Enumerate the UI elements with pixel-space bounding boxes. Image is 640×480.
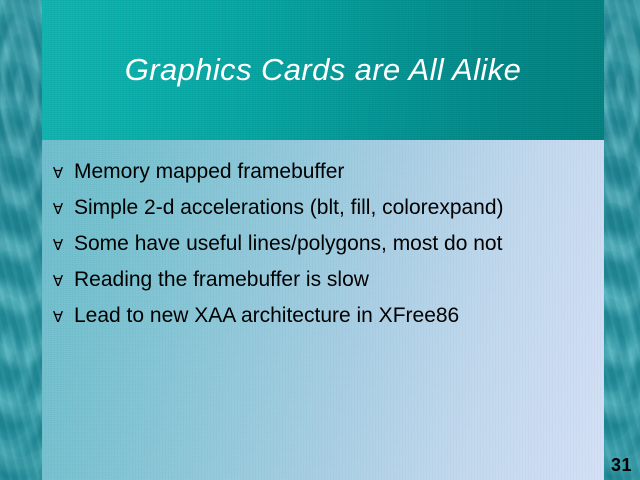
page-number: 31 bbox=[611, 455, 632, 476]
for-all-icon: ∀ bbox=[42, 310, 74, 325]
for-all-icon: ∀ bbox=[42, 238, 74, 253]
bullet-item: ∀ Simple 2-d accelerations (blt, fill, c… bbox=[42, 197, 604, 233]
bullet-text: Some have useful lines/polygons, most do… bbox=[74, 233, 502, 254]
slide-title: Graphics Cards are All Alike bbox=[42, 0, 604, 140]
presentation-slide: Graphics Cards are All Alike ∀ Memory ma… bbox=[0, 0, 640, 480]
bullet-text: Memory mapped framebuffer bbox=[74, 161, 344, 182]
bullet-list: ∀ Memory mapped framebuffer ∀ Simple 2-d… bbox=[42, 140, 604, 341]
for-all-icon: ∀ bbox=[42, 166, 74, 181]
bullet-item: ∀ Reading the framebuffer is slow bbox=[42, 269, 604, 305]
bullet-item: ∀ Some have useful lines/polygons, most … bbox=[42, 233, 604, 269]
left-border-texture bbox=[0, 0, 42, 480]
bullet-item: ∀ Memory mapped framebuffer bbox=[42, 161, 604, 197]
bullet-text: Reading the framebuffer is slow bbox=[74, 269, 369, 290]
bullet-item: ∀ Lead to new XAA architecture in XFree8… bbox=[42, 305, 604, 341]
right-border-texture bbox=[604, 0, 640, 480]
bullet-text: Simple 2-d accelerations (blt, fill, col… bbox=[74, 197, 504, 218]
for-all-icon: ∀ bbox=[42, 274, 74, 289]
bullet-text: Lead to new XAA architecture in XFree86 bbox=[74, 305, 459, 326]
for-all-icon: ∀ bbox=[42, 202, 74, 217]
